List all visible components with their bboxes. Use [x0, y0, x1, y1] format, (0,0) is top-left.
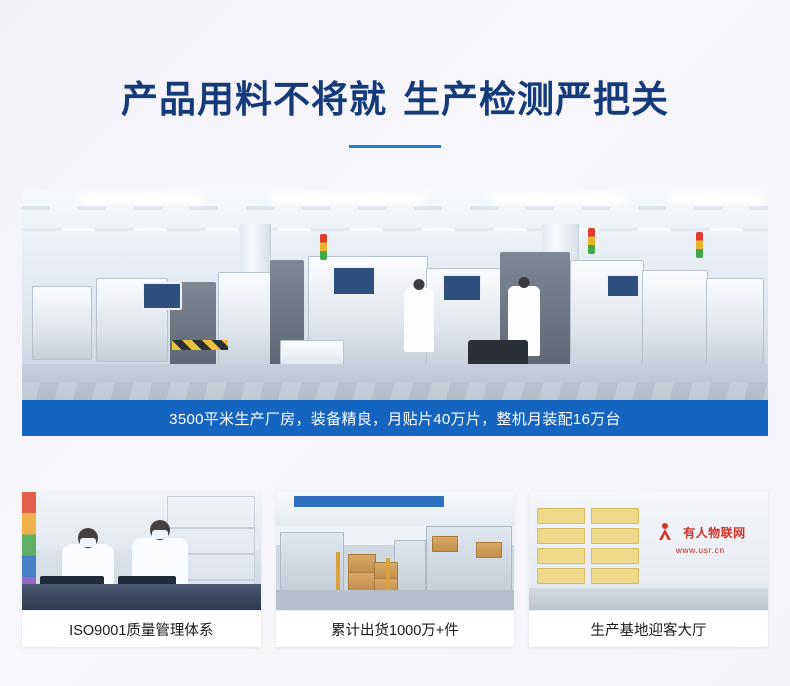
- usr-person-icon: [655, 522, 675, 542]
- andon-signal-tower: [320, 234, 327, 260]
- wall-plaque: [537, 508, 585, 524]
- card-image: [22, 492, 261, 610]
- heading-section: 产品用料不将就生产检测严把关: [0, 0, 790, 148]
- main-workshop-photo: 3500平米生产厂房，装备精良，月贴片40万片，整机月装配16万台: [22, 190, 768, 436]
- work-bench: [22, 584, 261, 610]
- card-production-base-lobby: 有人物联网 www.usr.cn 生产基地迎客大厅: [529, 492, 768, 647]
- floor-hazard-marking: [172, 340, 228, 350]
- carton-box: [348, 554, 376, 574]
- wall-plaque: [537, 548, 585, 564]
- carton-box: [348, 572, 376, 592]
- machine-display: [606, 274, 640, 298]
- machine: [642, 270, 708, 368]
- face-mask: [80, 538, 96, 547]
- wall-plaque-grid: [537, 508, 641, 582]
- photo-cards-row: ISO9001质量管理体系: [22, 492, 768, 647]
- machine-display: [332, 266, 376, 296]
- card-image: [276, 492, 515, 610]
- page-title-part2: 生产检测严把关: [403, 79, 669, 120]
- warehouse-floor: [276, 590, 515, 610]
- machine: [706, 278, 764, 366]
- carton-box: [432, 536, 458, 552]
- wall-plaque: [537, 528, 585, 544]
- wall-plaque: [591, 508, 639, 524]
- logo-url-text: www.usr.cn: [641, 545, 759, 555]
- wall-plaque: [591, 548, 639, 564]
- carton-box: [476, 542, 502, 558]
- card-warehouse-shipping: 累计出货1000万+件: [276, 492, 515, 647]
- machine-display: [442, 274, 482, 302]
- logo-text: 有人物联网: [683, 526, 746, 540]
- wall-plaque: [591, 528, 639, 544]
- lobby-floor: [529, 588, 768, 610]
- machine: [32, 286, 92, 360]
- ceiling-lamp: [82, 196, 202, 201]
- ceiling-lamp: [492, 196, 622, 201]
- andon-signal-tower: [696, 232, 703, 258]
- card-quality-inspection: ISO9001质量管理体系: [22, 492, 261, 647]
- ceiling-lamp: [672, 196, 762, 201]
- warehouse-banner: [294, 496, 444, 507]
- page-root: 产品用料不将就生产检测严把关: [0, 0, 790, 686]
- warehouse-scene: [276, 492, 515, 610]
- inspection-scene: [22, 492, 261, 610]
- card-label: ISO9001质量管理体系: [22, 610, 261, 647]
- card-label: 累计出货1000万+件: [276, 610, 515, 647]
- company-logo: 有人物联网 www.usr.cn: [641, 522, 759, 555]
- storage-rack: [394, 540, 426, 596]
- card-label: 生产基地迎客大厅: [529, 610, 768, 647]
- main-photo-caption: 3500平米生产厂房，装备精良，月贴片40万片，整机月装配16万台: [22, 400, 768, 436]
- title-underline-rule: [349, 145, 441, 148]
- wall-plaque: [537, 568, 585, 584]
- wall-plaque: [591, 568, 639, 584]
- storage-rack: [280, 532, 344, 596]
- worker: [404, 288, 434, 352]
- lobby-scene: 有人物联网 www.usr.cn: [529, 492, 768, 610]
- card-image: 有人物联网 www.usr.cn: [529, 492, 768, 610]
- andon-signal-tower: [588, 228, 595, 254]
- page-title-part1: 产品用料不将就: [121, 79, 387, 120]
- machine-display: [142, 282, 182, 310]
- face-mask: [152, 530, 168, 539]
- page-title: 产品用料不将就生产检测严把关: [0, 78, 790, 122]
- ceiling-lamp: [272, 196, 422, 201]
